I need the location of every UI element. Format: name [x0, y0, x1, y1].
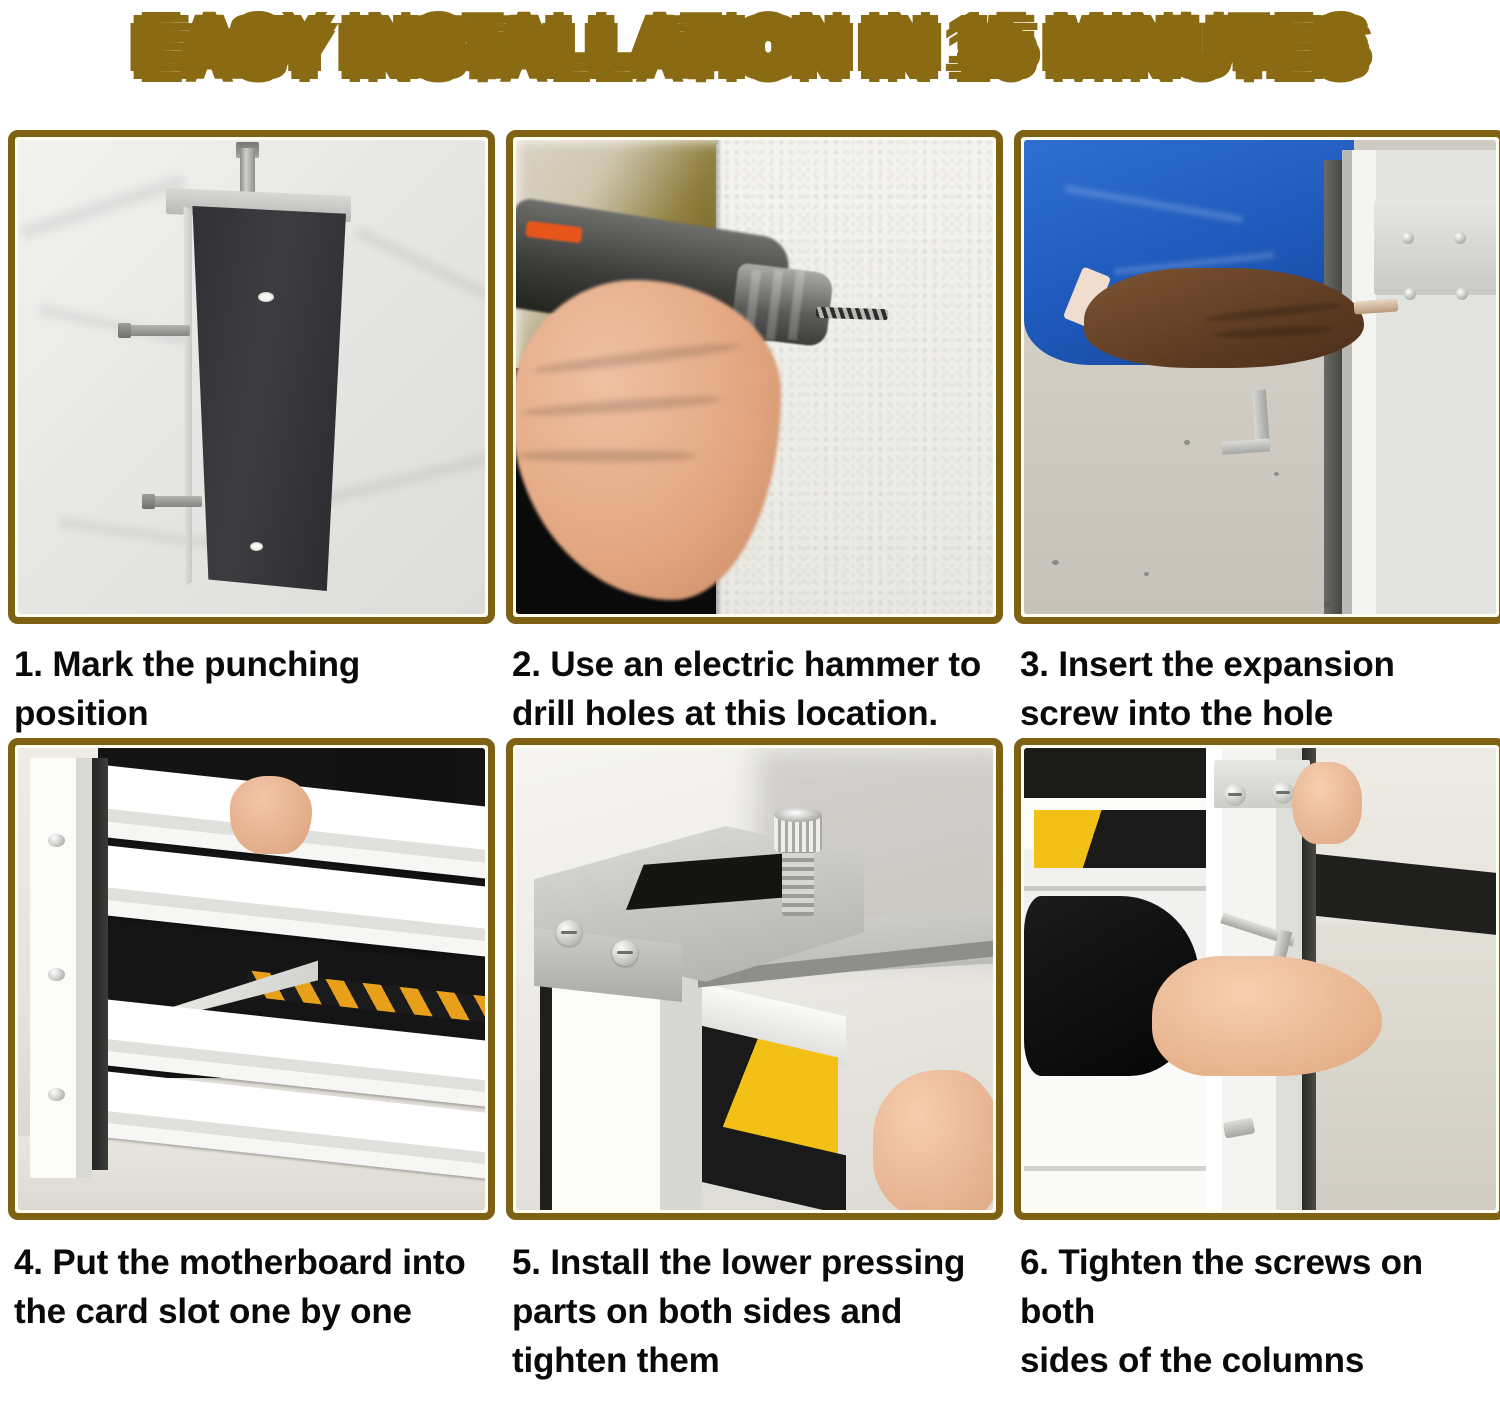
column-screw — [1224, 784, 1246, 806]
step-4-photo-frame — [8, 738, 495, 1220]
step-4: 4. Put the motherboard into the card slo… — [8, 738, 495, 1385]
step-4-photo — [18, 748, 485, 1210]
title-banner: EASY INSTALLATION IN 15 MINUTES — [0, 0, 1500, 94]
hand — [1152, 956, 1382, 1076]
step-2-photo-frame — [506, 130, 1003, 624]
steps-grid: 1. Mark the punching position — [8, 130, 1492, 1385]
bracket-screw — [556, 920, 582, 946]
step-6-photo-frame — [1014, 738, 1500, 1220]
hand — [230, 776, 312, 854]
hand — [873, 1070, 993, 1210]
step-6-caption: 6. Tighten the screws on both sides of t… — [1014, 1220, 1500, 1385]
step-5-caption: 5. Install the lower pressing parts on b… — [506, 1220, 1003, 1385]
column-screw — [1272, 782, 1294, 804]
installation-infographic: EASY INSTALLATION IN 15 MINUTES — [0, 0, 1500, 1403]
mark-hole-upper — [258, 292, 274, 302]
step-2-caption: 2. Use an electric hammer to drill holes… — [506, 624, 1003, 738]
step-3-caption: 3. Insert the expansion screw into the h… — [1014, 624, 1500, 738]
step-2: 2. Use an electric hammer to drill holes… — [506, 130, 1003, 738]
mounting-column — [186, 206, 346, 591]
step-3-photo — [1024, 140, 1496, 614]
step-5-photo — [516, 748, 993, 1210]
mark-hole-lower — [250, 542, 263, 551]
page-title: EASY INSTALLATION IN 15 MINUTES — [137, 12, 1363, 82]
step-1-caption: 1. Mark the punching position — [8, 624, 495, 738]
step-2-photo — [516, 140, 993, 614]
step-1-photo — [18, 140, 485, 614]
step-3-photo-frame — [1014, 130, 1500, 624]
step-6: 6. Tighten the screws on both sides of t… — [1014, 738, 1500, 1385]
step-5: 5. Install the lower pressing parts on b… — [506, 738, 1003, 1385]
step-1-photo-frame — [8, 130, 495, 624]
step-5-photo-frame — [506, 738, 1003, 1220]
hazard-stripe — [1034, 810, 1214, 868]
step-1: 1. Mark the punching position — [8, 130, 495, 738]
hand — [1292, 762, 1362, 844]
step-4-caption: 4. Put the motherboard into the card slo… — [8, 1220, 495, 1336]
step-6-photo — [1024, 748, 1496, 1210]
step-3: 3. Insert the expansion screw into the h… — [1014, 130, 1500, 738]
bracket-screw — [612, 940, 638, 966]
